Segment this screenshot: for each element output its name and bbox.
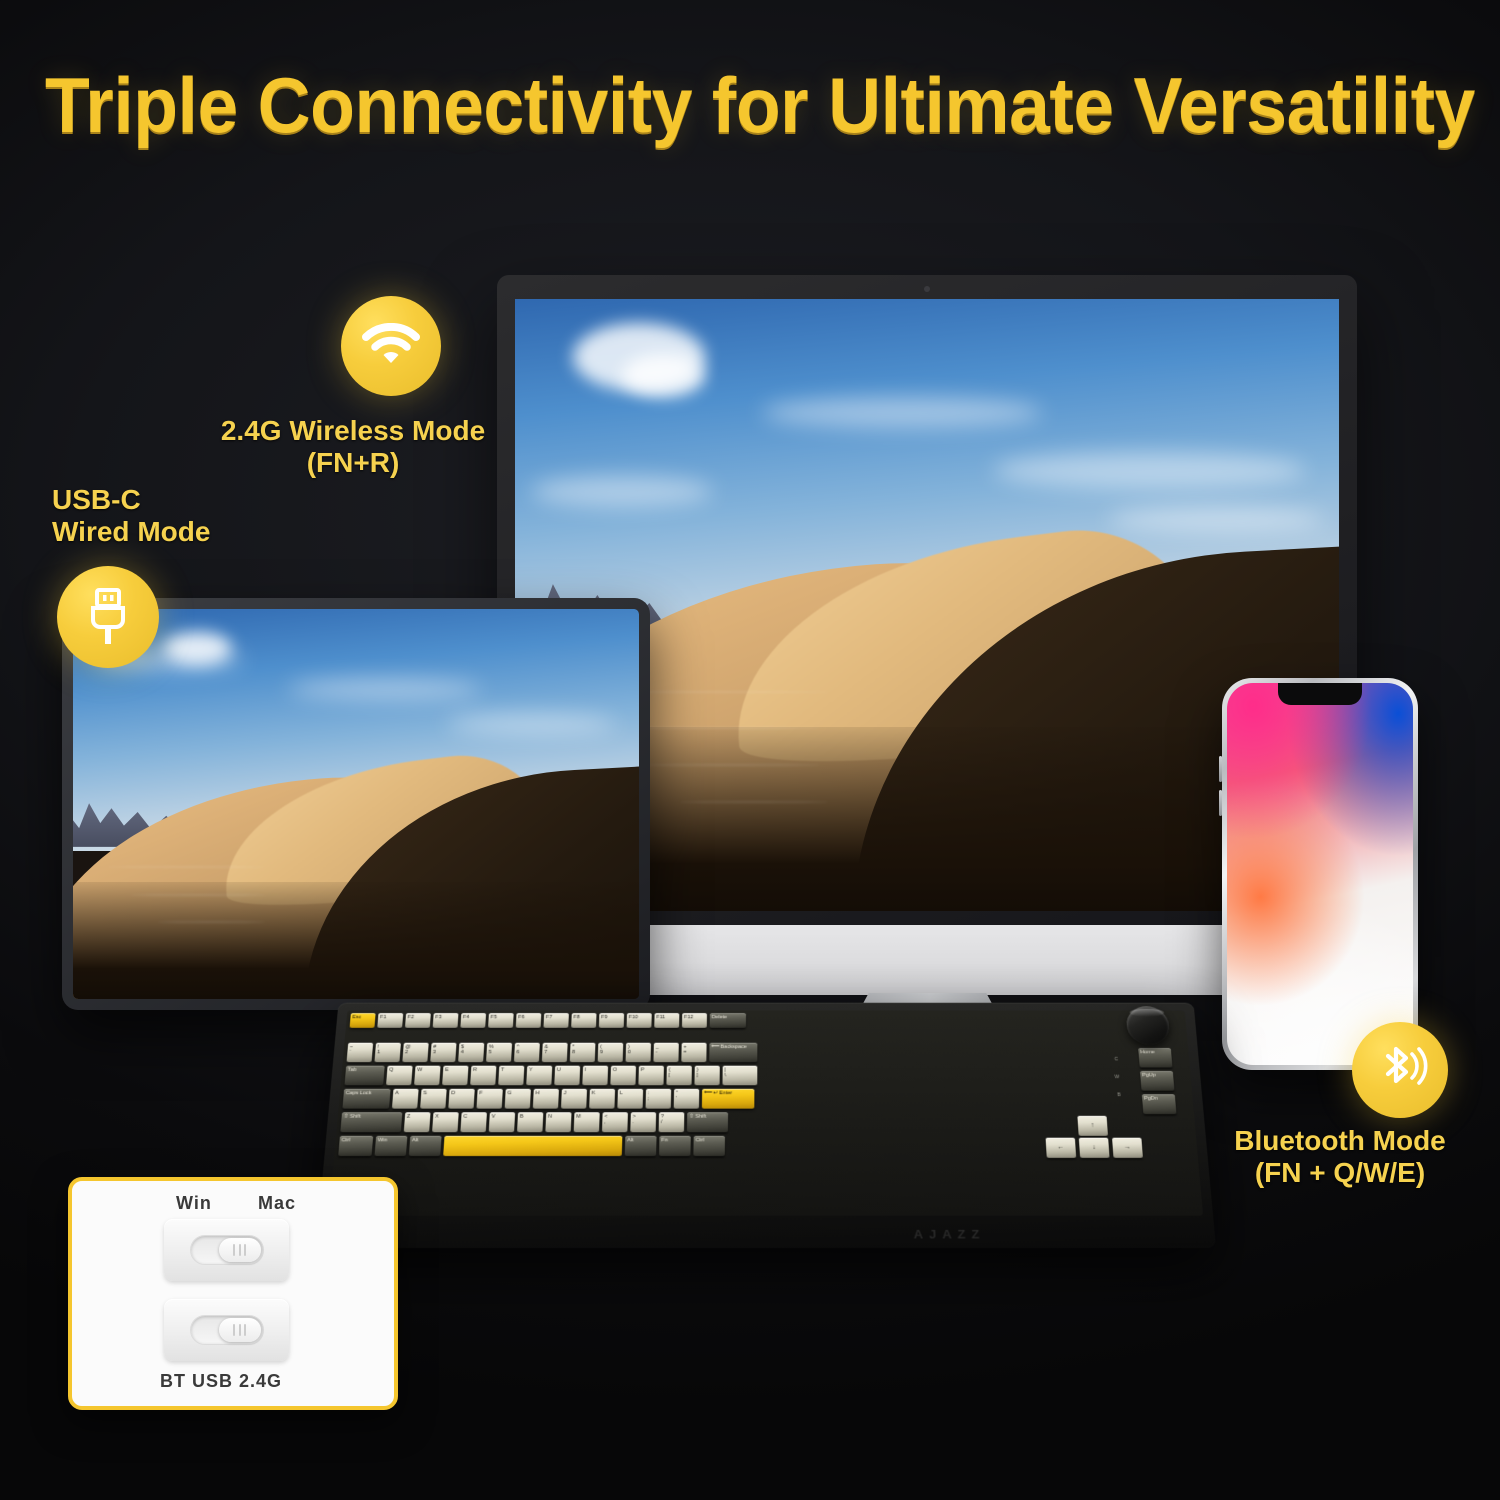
key-7[interactable]: & 7 [542, 1043, 568, 1062]
key-z[interactable]: Z [404, 1112, 431, 1132]
key-f7[interactable]: F7 [543, 1013, 568, 1028]
keyboard-device: EscF1F2F3F4F5F6F7F8F9F10F11F12Delete~ `!… [316, 1003, 1216, 1248]
key-i[interactable]: I [582, 1066, 608, 1086]
key-k[interactable]: K [589, 1089, 615, 1109]
key-x[interactable]: X [432, 1112, 459, 1132]
key-l[interactable]: L [617, 1089, 643, 1109]
key-space[interactable]: + = [681, 1043, 706, 1062]
key-e[interactable]: E [442, 1066, 468, 1086]
keyboard-row-function-row: EscF1F2F3F4F5F6F7F8F9F10F11F12Delete [350, 1013, 746, 1028]
iphone-device [1222, 678, 1418, 1070]
key-f6[interactable]: F6 [516, 1013, 542, 1028]
wireless-mode-label: 2.4G Wireless Mode (FN+R) [203, 415, 503, 479]
iphone-frame [1222, 678, 1418, 1070]
key-pgup[interactable]: PgUp [1140, 1071, 1174, 1091]
key-0[interactable]: ) 0 [626, 1043, 651, 1062]
key-space[interactable]: { [ [666, 1066, 691, 1086]
key-c[interactable]: C [460, 1112, 487, 1132]
key-space[interactable]: " ' [674, 1089, 700, 1109]
os-switch-track [190, 1235, 264, 1265]
key-m[interactable]: M [574, 1112, 600, 1132]
switch-label-connection: BT USB 2.4G [160, 1371, 282, 1392]
tablet-body [62, 598, 650, 1010]
key-f1[interactable]: F1 [377, 1013, 403, 1028]
key-t[interactable]: T [498, 1066, 524, 1086]
connection-switch-track [190, 1315, 264, 1345]
key-win[interactable]: Win [374, 1136, 407, 1156]
key-space[interactable]: | \ [722, 1066, 757, 1086]
key-home[interactable]: Home [1138, 1048, 1172, 1067]
key-f9[interactable]: F9 [599, 1013, 624, 1028]
key-arrow-left[interactable]: ← [1046, 1138, 1077, 1158]
key-3[interactable]: # 3 [430, 1043, 456, 1062]
key-esc[interactable]: Esc [350, 1013, 376, 1028]
key-arrow-down[interactable]: ↓ [1079, 1138, 1110, 1158]
key-r[interactable]: R [470, 1066, 496, 1086]
key-space[interactable]: ~ ` [347, 1043, 374, 1062]
keyboard-case: EscF1F2F3F4F5F6F7F8F9F10F11F12Delete~ `!… [316, 1003, 1216, 1248]
key-1[interactable]: ! 1 [374, 1043, 401, 1062]
tablet-screen [73, 609, 639, 999]
key-j[interactable]: J [561, 1089, 587, 1109]
key-p[interactable]: P [638, 1066, 664, 1086]
os-switch[interactable] [164, 1219, 289, 1281]
volume-up-button[interactable] [1219, 756, 1222, 782]
iphone-notch [1278, 683, 1362, 705]
key-v[interactable]: V [489, 1112, 515, 1132]
key-arrow-right[interactable]: → [1112, 1138, 1143, 1158]
usb-icon [57, 566, 159, 668]
wired-mode-label: USB-C Wired Mode [52, 484, 352, 548]
tablet-device [62, 598, 650, 1010]
key-b[interactable]: B [517, 1112, 543, 1132]
key-alt[interactable]: Alt [625, 1136, 657, 1156]
imac-camera [924, 286, 930, 292]
led-indicator-c: C [1114, 1057, 1118, 1062]
keyboard-row-bottom-row: CtrlWinAltAltFnCtrl [338, 1136, 725, 1156]
os-switch-thumb[interactable] [219, 1238, 261, 1262]
iphone-screen [1227, 683, 1413, 1065]
key-4[interactable]: $ 4 [458, 1043, 484, 1062]
led-indicator-w: W [1114, 1075, 1119, 1080]
keyboard-row-qwerty-row: TabQWERTYUIOP{ [} ]| \ [344, 1066, 757, 1086]
key-g[interactable]: G [505, 1089, 531, 1109]
key-d[interactable]: D [448, 1089, 474, 1109]
key-shift[interactable]: ⇧ Shift [340, 1112, 402, 1132]
key-pgdn[interactable]: PgDn [1142, 1094, 1177, 1114]
key-space[interactable]: : ; [646, 1089, 672, 1109]
key-f12[interactable]: F12 [682, 1013, 707, 1028]
key-enter[interactable]: ⟵ ↵ Enter [702, 1089, 755, 1109]
key-f[interactable]: F [476, 1089, 502, 1109]
key-ctrl[interactable]: Ctrl [693, 1136, 725, 1156]
bluetooth-icon [1352, 1022, 1448, 1118]
mode-switch-panel: Win Mac BT USB 2.4G [68, 1177, 398, 1410]
key-space[interactable] [443, 1136, 622, 1156]
key-backspace[interactable]: ⟵ Backspace [709, 1043, 757, 1062]
key-s[interactable]: S [420, 1089, 447, 1109]
key-space[interactable]: > . [630, 1112, 656, 1132]
switch-label-win: Win [176, 1193, 212, 1214]
keyboard-brand-logo: AJAZZ [913, 1227, 985, 1241]
connection-switch[interactable] [164, 1299, 289, 1361]
key-n[interactable]: N [545, 1112, 571, 1132]
wifi-icon [341, 296, 441, 396]
key-f10[interactable]: F10 [627, 1013, 652, 1028]
keyboard-row-home-row: Caps LockASDFGHJKL: ;" '⟵ ↵ Enter [342, 1089, 754, 1109]
key-space[interactable]: } ] [694, 1066, 719, 1086]
key-arrow-up[interactable]: ↑ [1077, 1116, 1108, 1136]
key-2[interactable]: @ 2 [402, 1043, 428, 1062]
key-6[interactable]: ^ 6 [514, 1043, 540, 1062]
keyboard-row-number-row: ~ `! 1@ 2# 3$ 4% 5^ 6& 7* 8( 9) 0_ -+ =⟵… [347, 1043, 758, 1062]
key-tab[interactable]: Tab [344, 1066, 384, 1086]
key-fn[interactable]: Fn [659, 1136, 691, 1156]
volume-down-button[interactable] [1219, 790, 1222, 816]
key-y[interactable]: Y [526, 1066, 552, 1086]
key-caps-lock[interactable]: Caps Lock [342, 1089, 390, 1109]
key-ctrl[interactable]: Ctrl [338, 1136, 373, 1156]
key-u[interactable]: U [554, 1066, 580, 1086]
key-shift[interactable]: ⇧ Shift [687, 1112, 728, 1132]
key-f3[interactable]: F3 [433, 1013, 459, 1028]
key-w[interactable]: W [414, 1066, 440, 1086]
mojave-wallpaper-tablet [73, 609, 639, 999]
key-h[interactable]: H [533, 1089, 559, 1109]
key-5[interactable]: % 5 [486, 1043, 512, 1062]
poster-stage: Triple Connectivity for Ultimate Versati… [0, 0, 1500, 1500]
key-alt[interactable]: Alt [409, 1136, 442, 1156]
page-title: Triple Connectivity for Ultimate Versati… [45, 66, 1455, 146]
key-f11[interactable]: F11 [654, 1013, 679, 1028]
key-space[interactable]: < , [602, 1112, 628, 1132]
switch-label-mac: Mac [258, 1193, 296, 1214]
key-f8[interactable]: F8 [571, 1013, 596, 1028]
key-8[interactable]: * 8 [570, 1043, 596, 1062]
key-f4[interactable]: F4 [460, 1013, 486, 1028]
keyboard-row-shift-row: ⇧ ShiftZXCVBNM< ,> .? /⇧ Shift [340, 1112, 728, 1132]
key-f5[interactable]: F5 [488, 1013, 514, 1028]
key-q[interactable]: Q [386, 1066, 413, 1086]
key-space[interactable]: ? / [659, 1112, 685, 1132]
key-o[interactable]: O [610, 1066, 636, 1086]
key-9[interactable]: ( 9 [598, 1043, 624, 1062]
key-a[interactable]: A [392, 1089, 419, 1109]
led-indicator-b: B [1117, 1092, 1121, 1097]
key-f2[interactable]: F2 [405, 1013, 431, 1028]
connection-switch-thumb[interactable] [219, 1318, 261, 1342]
key-space[interactable]: _ - [653, 1043, 678, 1062]
bluetooth-mode-label: Bluetooth Mode (FN + Q/W/E) [1180, 1125, 1500, 1189]
key-delete[interactable]: Delete [710, 1013, 746, 1028]
